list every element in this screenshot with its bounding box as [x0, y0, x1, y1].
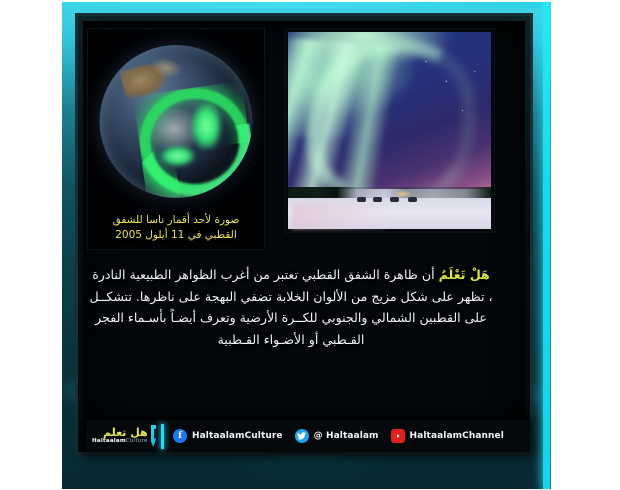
brand-logo[interactable]: هل تعلم HaltaalamCulture [92, 423, 156, 449]
earth-image-caption: صورة لأحد أقمار ناسا للشفق القطبي في 11 … [88, 213, 264, 243]
brand-mark-icon [151, 425, 156, 447]
facebook-icon: f [173, 429, 187, 443]
footer-divider [161, 424, 164, 449]
social-link-twitter[interactable]: @ Haltaalam [295, 429, 379, 443]
body-paragraph: هَلْ تَعْلَمُ أن ظاهرة الشفق القطبي تعتب… [89, 264, 493, 350]
brand-logo-latin: HaltaalamCulture [92, 438, 148, 445]
body-paragraph-text: أن ظاهرة الشفق القطبي تعتبر من أغرب الظو… [89, 267, 492, 347]
social-link-facebook[interactable]: f HaltaalamCulture [173, 429, 283, 443]
aurora-bands [288, 38, 407, 196]
snow-object [390, 197, 399, 202]
earth-caption-line-2: القطبي في 11 أيلول 2005 [94, 228, 258, 243]
snow-object [408, 197, 417, 202]
snow-road [292, 203, 385, 229]
youtube-icon [391, 429, 405, 443]
poster-right-accent-bar [543, 2, 550, 489]
night-sky [288, 32, 491, 196]
treeline [288, 187, 491, 198]
poster-top-accent-bar [62, 2, 551, 8]
screenshot-canvas: صورة لأحد أقمار ناسا للشفق القطبي في 11 … [0, 0, 620, 490]
earth-satellite-image [100, 45, 253, 198]
did-you-know-highlight: هَلْ تَعْلَمُ [439, 267, 490, 282]
snow-object [357, 197, 366, 202]
facebook-handle: HaltaalamCulture [192, 431, 283, 441]
earth-atmospheric-limb [100, 45, 253, 198]
aurora-photo-panel [284, 28, 495, 233]
brand-logo-latin-bold: Haltaalam [92, 438, 126, 444]
earth-caption-line-1: صورة لأحد أقمار ناسا للشفق [94, 213, 258, 228]
youtube-handle: HaltaalamChannel [410, 431, 504, 441]
twitter-icon [295, 429, 309, 443]
footer-bar: هل تعلم HaltaalamCulture f HaltaalamCult… [86, 420, 529, 452]
brand-logo-arabic: هل تعلم [92, 427, 148, 438]
brand-logo-text: هل تعلم HaltaalamCulture [92, 427, 148, 445]
social-links: f HaltaalamCulture @ Haltaalam [173, 429, 504, 443]
media-row: صورة لأحد أقمار ناسا للشفق القطبي في 11 … [87, 28, 495, 250]
snow-object [373, 197, 382, 202]
earth-image-panel: صورة لأحد أقمار ناسا للشفق القطبي في 11 … [87, 28, 265, 250]
social-link-youtube[interactable]: HaltaalamChannel [391, 429, 504, 443]
snow-field [288, 189, 491, 229]
twitter-handle: @ Haltaalam [314, 431, 379, 441]
brand-logo-latin-light: Culture [126, 438, 148, 444]
infographic-poster: صورة لأحد أقمار ناسا للشفق القطبي في 11 … [62, 2, 551, 489]
